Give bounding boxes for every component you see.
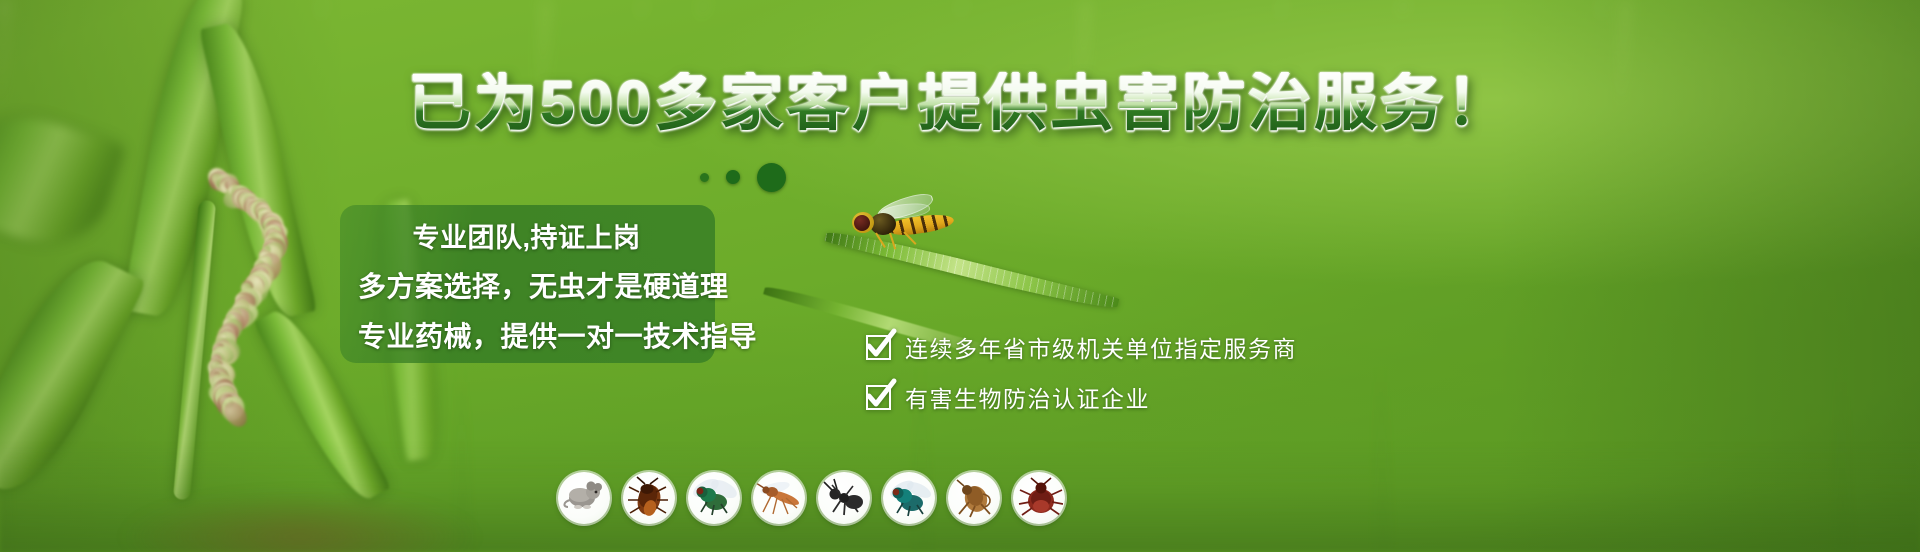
mosquito-icon	[755, 474, 803, 522]
page-title: 已为500多家客户提供虫害防治服务！	[0, 72, 1920, 135]
bedbug-icon	[1015, 474, 1063, 522]
pest-icon-circle[interactable]	[558, 472, 610, 524]
list-item: 有害生物防治认证企业	[866, 380, 1297, 414]
pest-type-icon-row	[558, 472, 1065, 524]
pest-icon-circle[interactable]	[818, 472, 870, 524]
pest-icon-circle[interactable]	[753, 472, 805, 524]
decorative-dot-small	[700, 173, 709, 182]
service-claims-panel: 专业团队,持证上岗 多方案选择，无虫才是硬道理 专业药械，提供一对一技术指导	[340, 205, 715, 363]
pest-control-hero-banner: 已为500多家客户提供虫害防治服务！ 已为500多家客户提供虫害防治服务！ 专业…	[0, 0, 1920, 552]
credential-text: 连续多年省市级机关单位指定服务商	[905, 330, 1297, 364]
pest-icon-circle[interactable]	[883, 472, 935, 524]
pest-icon-circle[interactable]	[948, 472, 1000, 524]
blowfly-icon	[885, 474, 933, 522]
checkbox-checked-icon	[866, 385, 891, 410]
ground-soil-blur	[120, 492, 480, 552]
checkbox-checked-icon	[866, 335, 891, 360]
credential-text: 有害生物防治认证企业	[905, 380, 1150, 414]
cockroach-icon	[625, 474, 673, 522]
pest-icon-circle[interactable]	[688, 472, 740, 524]
decorative-dot-medium	[726, 170, 740, 184]
decorative-dots	[700, 160, 860, 194]
service-claim-line: 专业药械，提供一对一技术指导	[358, 315, 695, 355]
ant-icon	[820, 474, 868, 522]
decorative-dot-large	[757, 163, 786, 192]
flea-icon	[950, 474, 998, 522]
green-fly-icon	[690, 474, 738, 522]
list-item: 连续多年省市级机关单位指定服务商	[866, 330, 1297, 364]
pest-icon-circle[interactable]	[623, 472, 675, 524]
credential-bullet-list: 连续多年省市级机关单位指定服务商 有害生物防治认证企业	[866, 330, 1297, 414]
service-claim-line: 专业团队,持证上岗	[358, 216, 695, 255]
mouse-icon	[560, 474, 608, 522]
pest-icon-circle[interactable]	[1013, 472, 1065, 524]
service-claim-line: 多方案选择，无虫才是硬道理	[358, 265, 695, 305]
